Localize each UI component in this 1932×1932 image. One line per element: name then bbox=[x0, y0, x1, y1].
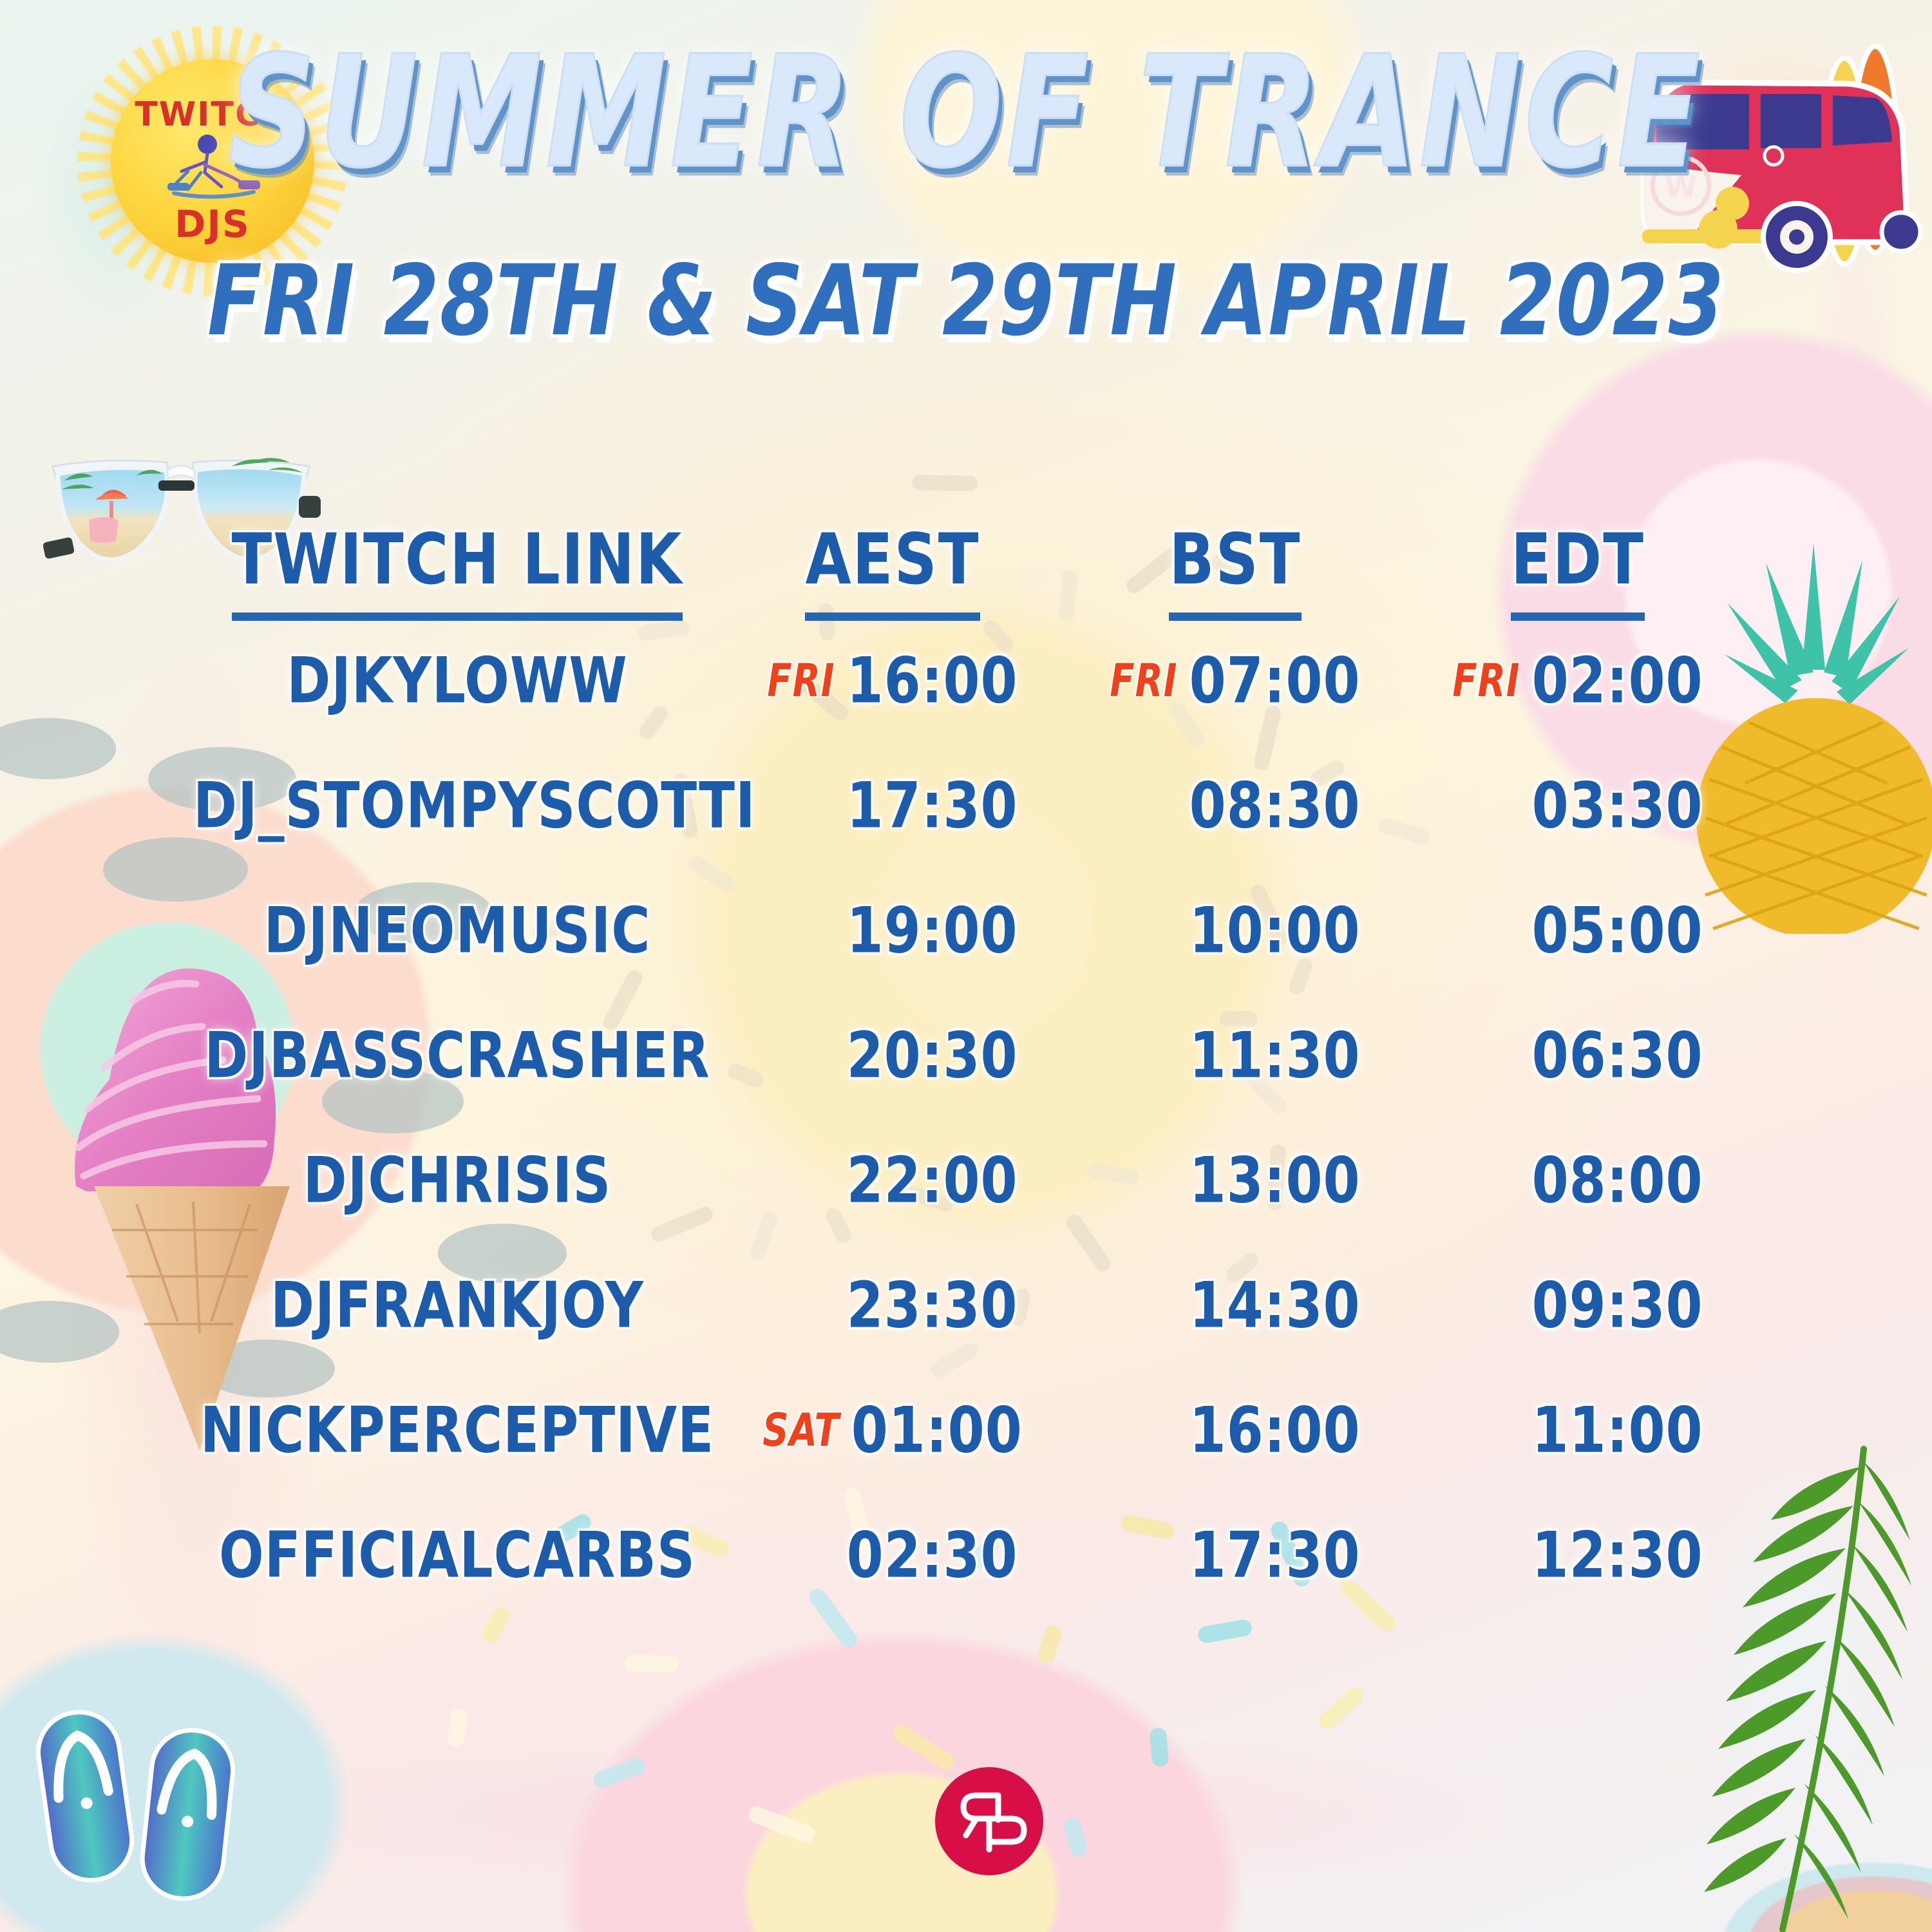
time-cell-edt: FRI11:00 bbox=[1406, 1394, 1749, 1467]
float-sprinkle bbox=[746, 1804, 817, 1845]
time-cell-edt: FRI02:00 bbox=[1406, 644, 1749, 717]
time-cell-bst: FRI14:30 bbox=[1064, 1269, 1406, 1342]
float-sprinkle bbox=[591, 1756, 648, 1790]
time-cell-edt: FRI08:00 bbox=[1406, 1144, 1749, 1217]
logo-text-bottom: DJS bbox=[77, 202, 348, 246]
day-tag: SAT bbox=[762, 1404, 840, 1457]
dj-twitch-handle[interactable]: DJNEOMUSIC bbox=[193, 894, 721, 967]
rp-monogram-mark bbox=[951, 1783, 1028, 1860]
time-cell-bst: FRI11:30 bbox=[1064, 1019, 1406, 1092]
float-sprinkle bbox=[1197, 1618, 1253, 1644]
time-value: 17:30 bbox=[1189, 1519, 1361, 1592]
dj-twitch-handle[interactable]: DJFRANKJOY bbox=[193, 1269, 721, 1342]
time-cell-aest: SAT01:00 bbox=[721, 1394, 1064, 1467]
time-cell-aest: FRI02:30 bbox=[721, 1519, 1064, 1592]
table-row: OFFICIALCARBSFRI02:30FRI17:30FRI12:30 bbox=[193, 1493, 1752, 1618]
time-value: 08:00 bbox=[1532, 1144, 1703, 1217]
poster-canvas: TWITCH DJS bbox=[0, 0, 1932, 1932]
time-cell-bst: FRI16:00 bbox=[1064, 1394, 1406, 1467]
dj-twitch-handle[interactable]: OFFICIALCARBS bbox=[193, 1519, 721, 1592]
event-dates: FRI 28TH & SAT 29TH APRIL 2023 bbox=[0, 245, 1932, 358]
time-value: 11:30 bbox=[1189, 1019, 1361, 1092]
time-cell-edt: FRI03:30 bbox=[1406, 769, 1749, 842]
table-header-row: TWITCH LINK AEST BST EDT bbox=[193, 522, 1752, 618]
time-value: 05:00 bbox=[1532, 894, 1703, 967]
time-value: 12:30 bbox=[1532, 1519, 1703, 1592]
column-header-twitch-link: TWITCH LINK bbox=[193, 519, 721, 621]
time-cell-aest: FRI19:00 bbox=[721, 894, 1064, 967]
column-header-bst: BST bbox=[1064, 519, 1406, 621]
float-sprinkle bbox=[447, 1708, 468, 1748]
rp-monogram-logo bbox=[935, 1767, 1043, 1875]
time-cell-edt: FRI09:30 bbox=[1406, 1269, 1749, 1342]
float-sprinkle bbox=[889, 1721, 957, 1772]
flip-flops-icon bbox=[32, 1707, 251, 1932]
time-value: 16:00 bbox=[847, 644, 1018, 717]
dj-twitch-handle[interactable]: DJCHRISIS bbox=[193, 1144, 721, 1217]
table-row: DJCHRISISFRI22:00FRI13:00FRI08:00 bbox=[193, 1118, 1752, 1243]
time-cell-edt: FRI12:30 bbox=[1406, 1519, 1749, 1592]
time-value: 23:30 bbox=[847, 1269, 1018, 1342]
time-value: 13:00 bbox=[1189, 1144, 1361, 1217]
time-cell-edt: FRI06:30 bbox=[1406, 1019, 1749, 1092]
time-cell-aest: FRI17:30 bbox=[721, 769, 1064, 842]
dj-twitch-handle[interactable]: DJBASSCRASHER bbox=[193, 1019, 721, 1092]
time-value: 10:00 bbox=[1189, 894, 1361, 967]
time-cell-aest: FRI20:30 bbox=[721, 1019, 1064, 1092]
day-tag: FRI bbox=[1110, 654, 1177, 707]
time-value: 17:30 bbox=[847, 769, 1018, 842]
dj-twitch-handle[interactable]: DJKYLOWW bbox=[193, 644, 721, 717]
time-cell-bst: FRI10:00 bbox=[1064, 894, 1406, 967]
table-row: DJKYLOWWFRI16:00FRI07:00FRI02:00 bbox=[193, 618, 1752, 743]
float-sprinkle bbox=[1315, 1684, 1367, 1733]
time-value: 20:30 bbox=[847, 1019, 1018, 1092]
time-cell-bst: FRI08:30 bbox=[1064, 769, 1406, 842]
time-value: 07:00 bbox=[1189, 644, 1361, 717]
column-header-aest: AEST bbox=[721, 519, 1064, 621]
time-cell-aest: FRI23:30 bbox=[721, 1269, 1064, 1342]
time-value: 03:30 bbox=[1532, 769, 1703, 842]
time-cell-aest: FRI16:00 bbox=[721, 644, 1064, 717]
table-row: DJNEOMUSICFRI19:00FRI10:00FRI05:00 bbox=[193, 868, 1752, 993]
dj-twitch-handle[interactable]: NICKPERCEPTIVE bbox=[193, 1394, 721, 1467]
time-value: 22:00 bbox=[847, 1144, 1018, 1217]
table-row: DJFRANKJOYFRI23:30FRI14:30FRI09:30 bbox=[193, 1243, 1752, 1368]
table-row: DJBASSCRASHERFRI20:30FRI11:30FRI06:30 bbox=[193, 993, 1752, 1118]
time-value: 08:30 bbox=[1189, 769, 1361, 842]
day-tag: FRI bbox=[1452, 654, 1520, 707]
table-row: DJ_STOMPYSCOTTIFRI17:30FRI08:30FRI03:30 bbox=[193, 743, 1752, 868]
time-value: 09:30 bbox=[1532, 1269, 1703, 1342]
time-value: 02:30 bbox=[847, 1519, 1018, 1592]
time-cell-edt: FRI05:00 bbox=[1406, 894, 1749, 967]
time-value: 11:00 bbox=[1532, 1394, 1703, 1467]
float-sprinkle bbox=[1036, 1624, 1063, 1665]
schedule-table: TWITCH LINK AEST BST EDT DJKYLOWWFRI16:0… bbox=[193, 522, 1752, 1618]
time-value: 02:00 bbox=[1532, 644, 1703, 717]
time-value: 01:00 bbox=[851, 1394, 1023, 1467]
time-value: 19:00 bbox=[847, 894, 1018, 967]
time-value: 14:30 bbox=[1189, 1269, 1361, 1342]
day-tag: FRI bbox=[767, 654, 835, 707]
table-row: NICKPERCEPTIVESAT01:00FRI16:00FRI11:00 bbox=[193, 1368, 1752, 1493]
page-title: SUMMER OF TRANCE bbox=[39, 23, 1893, 202]
time-cell-aest: FRI22:00 bbox=[721, 1144, 1064, 1217]
float-sprinkle bbox=[0, 718, 116, 779]
time-value: 16:00 bbox=[1189, 1394, 1361, 1467]
float-sprinkle bbox=[1062, 1817, 1089, 1859]
time-cell-bst: FRI13:00 bbox=[1064, 1144, 1406, 1217]
float-sprinkle bbox=[1149, 1727, 1169, 1767]
time-value: 06:30 bbox=[1532, 1019, 1703, 1092]
time-cell-bst: FRI17:30 bbox=[1064, 1519, 1406, 1592]
column-header-edt: EDT bbox=[1406, 519, 1749, 621]
float-sprinkle bbox=[625, 1654, 679, 1672]
donut-sprinkle bbox=[912, 475, 978, 491]
time-cell-bst: FRI07:00 bbox=[1064, 644, 1406, 717]
dj-twitch-handle[interactable]: DJ_STOMPYSCOTTI bbox=[193, 769, 721, 842]
